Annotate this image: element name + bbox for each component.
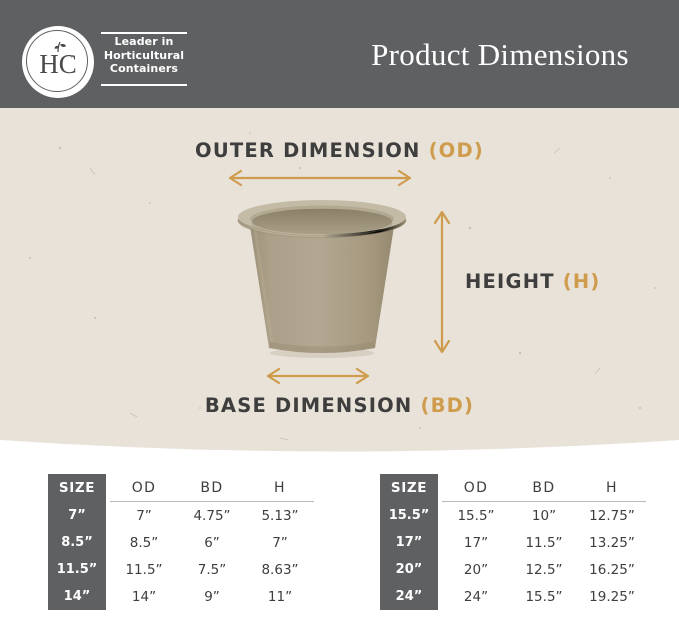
base-dimension-arrow-icon bbox=[262, 366, 374, 386]
logo-tagline-line-2: Horticultural bbox=[101, 49, 187, 63]
cell-size: 11.5” bbox=[48, 556, 106, 583]
column-header-od: OD bbox=[110, 474, 178, 502]
cell-size: 8.5” bbox=[48, 529, 106, 556]
svg-text:HC: HC bbox=[39, 49, 77, 79]
planter-pot-illustration bbox=[222, 196, 422, 366]
cell-h: 16.25” bbox=[578, 556, 646, 583]
height-arrow-icon bbox=[432, 208, 452, 356]
column-header-h: H bbox=[246, 474, 314, 502]
cell-od: 7” bbox=[110, 502, 178, 530]
table-row: 8.5” 8.5” 6” 7” bbox=[48, 529, 314, 556]
cell-od: 20” bbox=[442, 556, 510, 583]
cell-size: 15.5” bbox=[380, 502, 438, 530]
cell-h: 5.13” bbox=[246, 502, 314, 530]
logo-monogram-icon: HC bbox=[22, 26, 94, 98]
cell-size: 7” bbox=[48, 502, 106, 530]
table-small-sizes: SIZE OD BD H 7” 7” 4.75” 5.13” 8.5” 8.5” bbox=[48, 474, 314, 610]
cell-bd: 12.5” bbox=[510, 556, 578, 583]
cell-size: 20” bbox=[380, 556, 438, 583]
cell-size: 24” bbox=[380, 583, 438, 610]
column-header-size: SIZE bbox=[380, 474, 438, 502]
product-dimensions-infographic: HC Leader in Horticultural Containers Pr… bbox=[0, 0, 679, 636]
page-title: Product Dimensions bbox=[340, 38, 660, 72]
cell-bd: 10” bbox=[510, 502, 578, 530]
cell-od: 24” bbox=[442, 583, 510, 610]
cell-h: 7” bbox=[246, 529, 314, 556]
cell-h: 13.25” bbox=[578, 529, 646, 556]
cell-h: 11” bbox=[246, 583, 314, 610]
height-text: HEIGHT bbox=[465, 270, 563, 293]
header-bar: HC Leader in Horticultural Containers Pr… bbox=[0, 0, 679, 108]
cell-bd: 15.5” bbox=[510, 583, 578, 610]
table-row: 11.5” 11.5” 7.5” 8.63” bbox=[48, 556, 314, 583]
cell-od: 11.5” bbox=[110, 556, 178, 583]
cell-h: 8.63” bbox=[246, 556, 314, 583]
table-row: 20” 20” 12.5” 16.25” bbox=[380, 556, 646, 583]
cell-size: 17” bbox=[380, 529, 438, 556]
hc-logo: HC bbox=[22, 26, 94, 98]
logo-tagline-line-3: Containers bbox=[101, 62, 187, 76]
logo-divider-top bbox=[101, 32, 187, 34]
logo-tagline-line-1: Leader in bbox=[101, 35, 187, 49]
cell-bd: 7.5” bbox=[178, 556, 246, 583]
dimension-table-small: SIZE OD BD H 7” 7” 4.75” 5.13” 8.5” 8.5” bbox=[48, 474, 314, 610]
cell-bd: 9” bbox=[178, 583, 246, 610]
cell-h: 19.25” bbox=[578, 583, 646, 610]
cell-bd: 4.75” bbox=[178, 502, 246, 530]
table-row: 17” 17” 11.5” 13.25” bbox=[380, 529, 646, 556]
dimension-table-large: SIZE OD BD H 15.5” 15.5” 10” 12.75” 17” … bbox=[380, 474, 646, 610]
table-row: 15.5” 15.5” 10” 12.75” bbox=[380, 502, 646, 530]
outer-dimension-tag: (OD) bbox=[429, 139, 484, 162]
base-dimension-tag: (BD) bbox=[420, 394, 474, 417]
cell-od: 15.5” bbox=[442, 502, 510, 530]
height-tag: (H) bbox=[563, 270, 601, 293]
table-header-row: SIZE OD BD H bbox=[380, 474, 646, 502]
column-header-size: SIZE bbox=[48, 474, 106, 502]
base-dimension-label: BASE DIMENSION (BD) bbox=[0, 394, 679, 417]
cell-size: 14” bbox=[48, 583, 106, 610]
column-header-h: H bbox=[578, 474, 646, 502]
logo-divider-bottom bbox=[101, 84, 187, 86]
logo-tagline: Leader in Horticultural Containers bbox=[101, 35, 187, 76]
cell-od: 17” bbox=[442, 529, 510, 556]
table-row: 24” 24” 15.5” 19.25” bbox=[380, 583, 646, 610]
height-label: HEIGHT (H) bbox=[465, 270, 600, 293]
table-header-row: SIZE OD BD H bbox=[48, 474, 314, 502]
outer-dimension-label: OUTER DIMENSION (OD) bbox=[0, 139, 679, 162]
cell-od: 14” bbox=[110, 583, 178, 610]
table-large-sizes: SIZE OD BD H 15.5” 15.5” 10” 12.75” 17” … bbox=[380, 474, 646, 610]
base-dimension-text: BASE DIMENSION bbox=[205, 394, 421, 417]
cell-bd: 6” bbox=[178, 529, 246, 556]
cell-bd: 11.5” bbox=[510, 529, 578, 556]
cell-h: 12.75” bbox=[578, 502, 646, 530]
outer-dimension-text: OUTER DIMENSION bbox=[195, 139, 429, 162]
dimension-tables: SIZE OD BD H 7” 7” 4.75” 5.13” 8.5” 8.5” bbox=[0, 474, 679, 636]
table-row: 7” 7” 4.75” 5.13” bbox=[48, 502, 314, 530]
column-header-od: OD bbox=[442, 474, 510, 502]
column-header-bd: BD bbox=[178, 474, 246, 502]
column-header-bd: BD bbox=[510, 474, 578, 502]
outer-dimension-arrow-icon bbox=[224, 168, 416, 188]
cell-od: 8.5” bbox=[110, 529, 178, 556]
table-row: 14” 14” 9” 11” bbox=[48, 583, 314, 610]
